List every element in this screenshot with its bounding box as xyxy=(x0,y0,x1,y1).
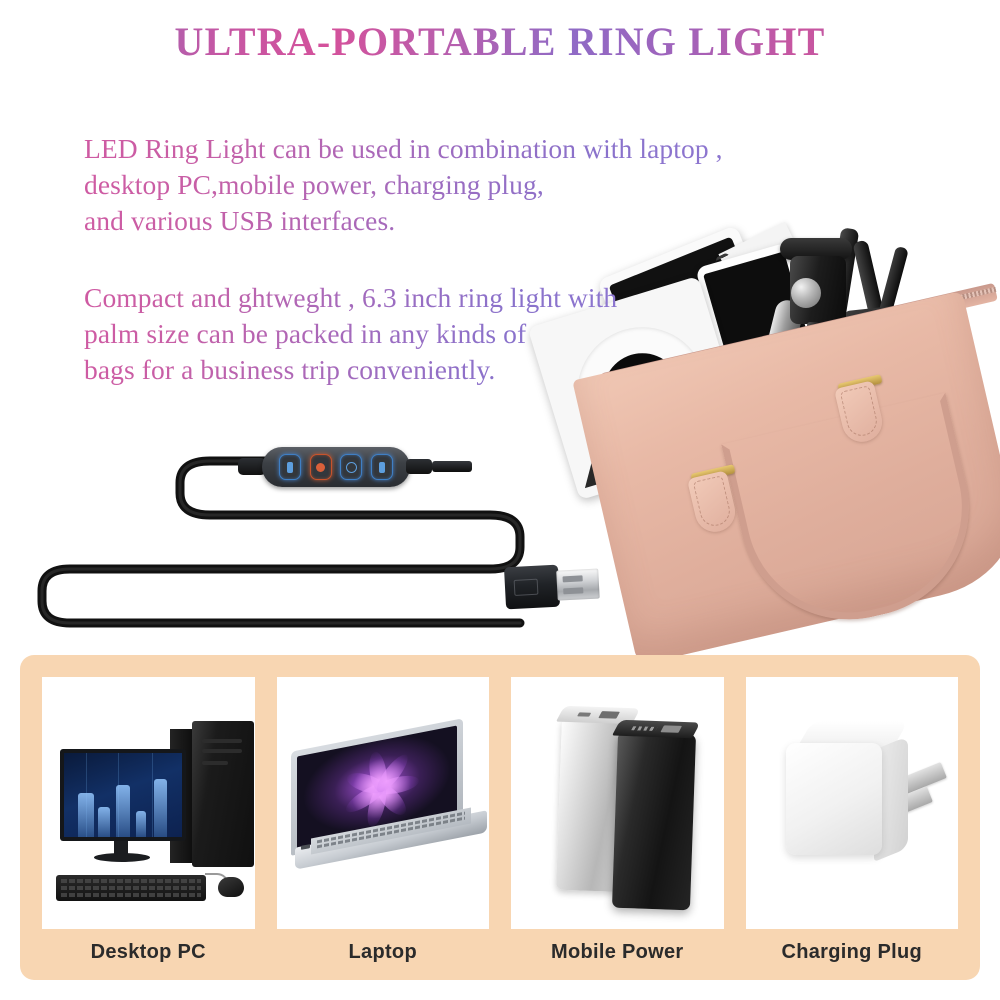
power-bank-silver-usb-port xyxy=(598,711,620,719)
warm-light-button[interactable] xyxy=(310,454,332,480)
keyboard-row-2 xyxy=(61,886,201,890)
screen-building-4 xyxy=(136,811,146,837)
power-bank-black-icon xyxy=(612,732,696,911)
device-label-laptop: Laptop xyxy=(349,941,417,964)
keyboard-row-3 xyxy=(61,893,201,897)
paragraph-1-line-3: and various USB interfaces. xyxy=(84,203,723,239)
pc-tower-slot-2 xyxy=(202,749,242,753)
paragraph-2-line-2: palm size can be packed in any kinds of xyxy=(84,316,617,352)
usb-pin-2 xyxy=(563,587,583,594)
power-bank-led-indicators xyxy=(631,726,657,731)
cool-light-button[interactable] xyxy=(340,454,362,480)
controller-cable-joint-right xyxy=(406,459,432,474)
power-button[interactable] xyxy=(371,454,393,480)
device-item-mobile-power[interactable]: Mobile Power xyxy=(511,677,724,980)
ball-head-sphere-icon xyxy=(791,278,821,308)
paragraph-1-line-1: LED Ring Light can be used in combinatio… xyxy=(84,131,723,167)
paragraph-2-line-1: Compact and ghtweght , 6.3 inch ring lig… xyxy=(84,280,617,316)
inline-remote-controller[interactable] xyxy=(262,447,410,487)
device-label-desktop-pc: Desktop PC xyxy=(91,941,206,964)
device-item-laptop[interactable]: Laptop xyxy=(277,677,490,980)
brightness-button[interactable] xyxy=(279,454,301,480)
mouse-icon xyxy=(218,877,244,897)
cable-end-plug xyxy=(432,461,472,472)
description-paragraph-1: LED Ring Light can be used in combinatio… xyxy=(84,131,723,239)
usb-connector-housing xyxy=(504,565,560,610)
paragraph-2-line-3: bags for a business trip conveniently. xyxy=(84,352,617,388)
paragraph-1-line-2: desktop PC,mobile power, charging plug, xyxy=(84,167,723,203)
desktop-pc-icon xyxy=(192,721,254,867)
monitor-stand-base xyxy=(94,853,150,862)
screen-building-3 xyxy=(116,785,130,837)
usb-a-connector-icon xyxy=(504,563,598,610)
keyboard-icon xyxy=(56,875,206,901)
device-label-mobile-power: Mobile Power xyxy=(551,941,684,964)
power-bank-black-usb-port xyxy=(660,725,682,733)
screen-gridline-3 xyxy=(152,753,153,837)
monitor-icon xyxy=(60,749,186,841)
usb-pin-1 xyxy=(563,575,583,582)
device-card-mobile-power xyxy=(511,677,724,929)
device-card-laptop xyxy=(277,677,490,929)
device-item-desktop-pc[interactable]: Desktop PC xyxy=(42,677,255,980)
charging-plug-icon xyxy=(786,743,882,855)
pc-tower-slot-3 xyxy=(202,761,228,765)
keyboard-row-1 xyxy=(61,879,201,883)
device-card-charging-plug xyxy=(746,677,959,929)
screen-building-1 xyxy=(78,793,94,837)
pc-tower-slot-1 xyxy=(202,739,242,743)
screen-building-5 xyxy=(154,779,167,837)
description-paragraph-2: Compact and ghtweght , 6.3 inch ring lig… xyxy=(84,280,617,388)
screen-building-2 xyxy=(98,807,110,837)
power-bank-silver-micro-port xyxy=(577,712,591,716)
device-item-charging-plug[interactable]: Charging Plug xyxy=(746,677,959,980)
device-card-desktop-pc xyxy=(42,677,255,929)
device-label-charging-plug: Charging Plug xyxy=(781,941,922,964)
compatible-devices-panel: Desktop PC Laptop xyxy=(20,655,980,980)
monitor-screen xyxy=(64,753,182,837)
usb-connector-metal-tip xyxy=(556,569,600,601)
